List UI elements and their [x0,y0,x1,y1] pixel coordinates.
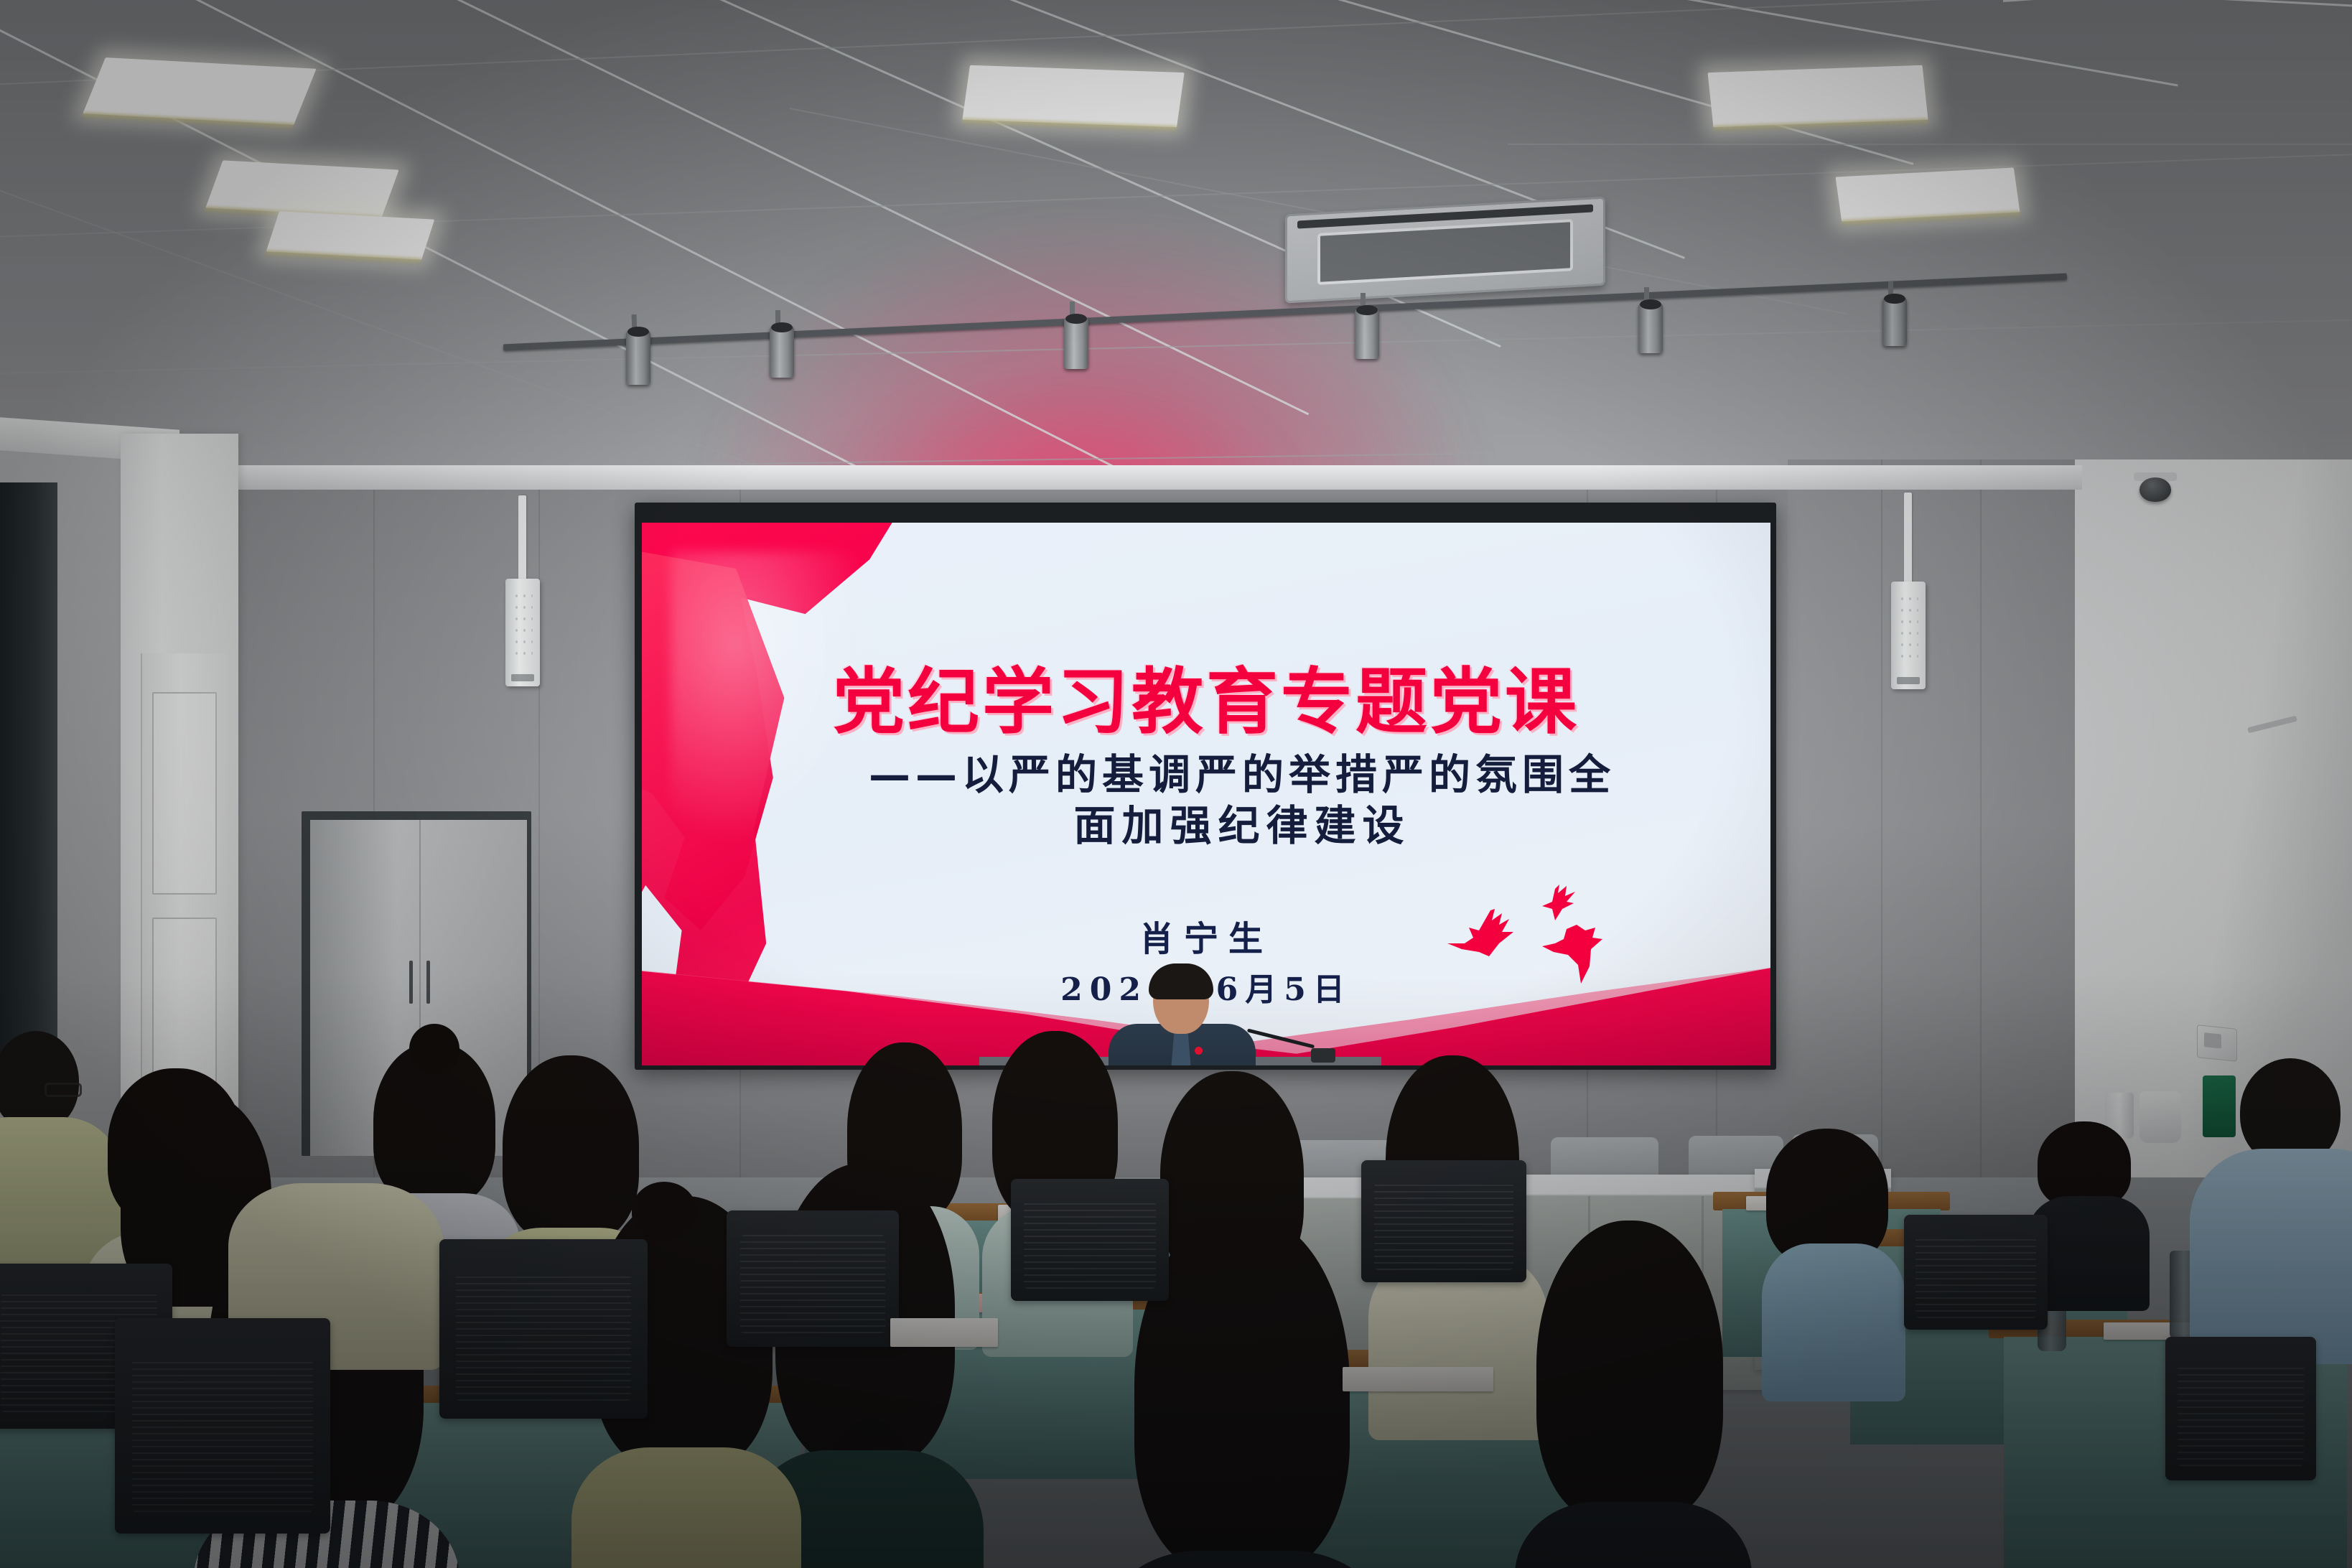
led-screen: 党纪学习教育专题党课 ——以严的基调严的举措严的氛围全 面加强纪律建设 肖宁生 … [635,503,1776,1070]
dove-icon-large [1447,909,1541,975]
light-panel-6 [1836,167,2020,221]
speaker-rod-left [518,495,526,580]
spotlight-3 [1064,317,1088,369]
chair-center-3[interactable] [1011,1179,1169,1301]
teapot [2139,1091,2181,1143]
chair-center-4[interactable] [1361,1160,1526,1282]
ceiling-air-conditioner [1285,197,1605,304]
wall-soffit [237,465,2082,490]
slide-subtitle-line2: 面加强纪律建设 [728,801,1756,851]
light-panel-5 [1708,65,1928,127]
meeting-room-photo: 党纪学习教育专题党课 ——以严的基调严的举措严的氛围全 面加强纪律建设 肖宁生 … [0,0,2352,1568]
spotlight-2 [770,326,794,378]
dome-camera-icon [2139,477,2171,502]
chair-center-1[interactable] [439,1239,648,1419]
dove-group [1447,880,1634,995]
slide-title: 党纪学习教育专题党课 [642,643,1770,747]
chair-center-2[interactable] [727,1210,899,1347]
slide-subtitle: ——以严的基调严的举措严的氛围全 面加强纪律建设 [728,750,1756,851]
dove-icon-medium [1539,925,1608,986]
document-front [1343,1367,1493,1391]
wall-speaker-left [505,579,540,686]
light-panel-1 [83,57,316,125]
window-dark [0,482,57,1071]
presenter-figure [1087,968,1274,1065]
ceiling [0,0,2352,531]
slide-subtitle-line1: ——以严的基调严的举措严的氛围全 [869,750,1615,799]
spotlight-5 [1638,303,1663,353]
microphone-head [1311,1048,1335,1063]
notebook-front [890,1318,998,1347]
speaker-rod-right [1904,493,1912,583]
spotlight-1 [626,330,650,385]
light-panel-4 [962,65,1184,127]
green-container [2203,1075,2236,1137]
right-wall-panel [1788,459,2082,1185]
party-pin [1195,1047,1203,1055]
light-panel-3 [266,211,434,260]
wall-speaker-right [1891,582,1926,689]
light-panel-2 [205,160,398,217]
spotlight-6 [1882,297,1907,346]
chair-left-2[interactable] [115,1318,330,1534]
chair-right-2[interactable] [2165,1337,2316,1480]
slide-canvas: 党纪学习教育专题党课 ——以严的基调严的举措严的氛围全 面加强纪律建设 肖宁生 … [642,523,1770,1065]
chair-right-1[interactable] [1904,1215,2048,1330]
glasses-icon [45,1083,82,1097]
dove-icon-small [1534,885,1584,925]
spotlight-4 [1355,309,1379,359]
light-switch[interactable] [2197,1025,2237,1062]
